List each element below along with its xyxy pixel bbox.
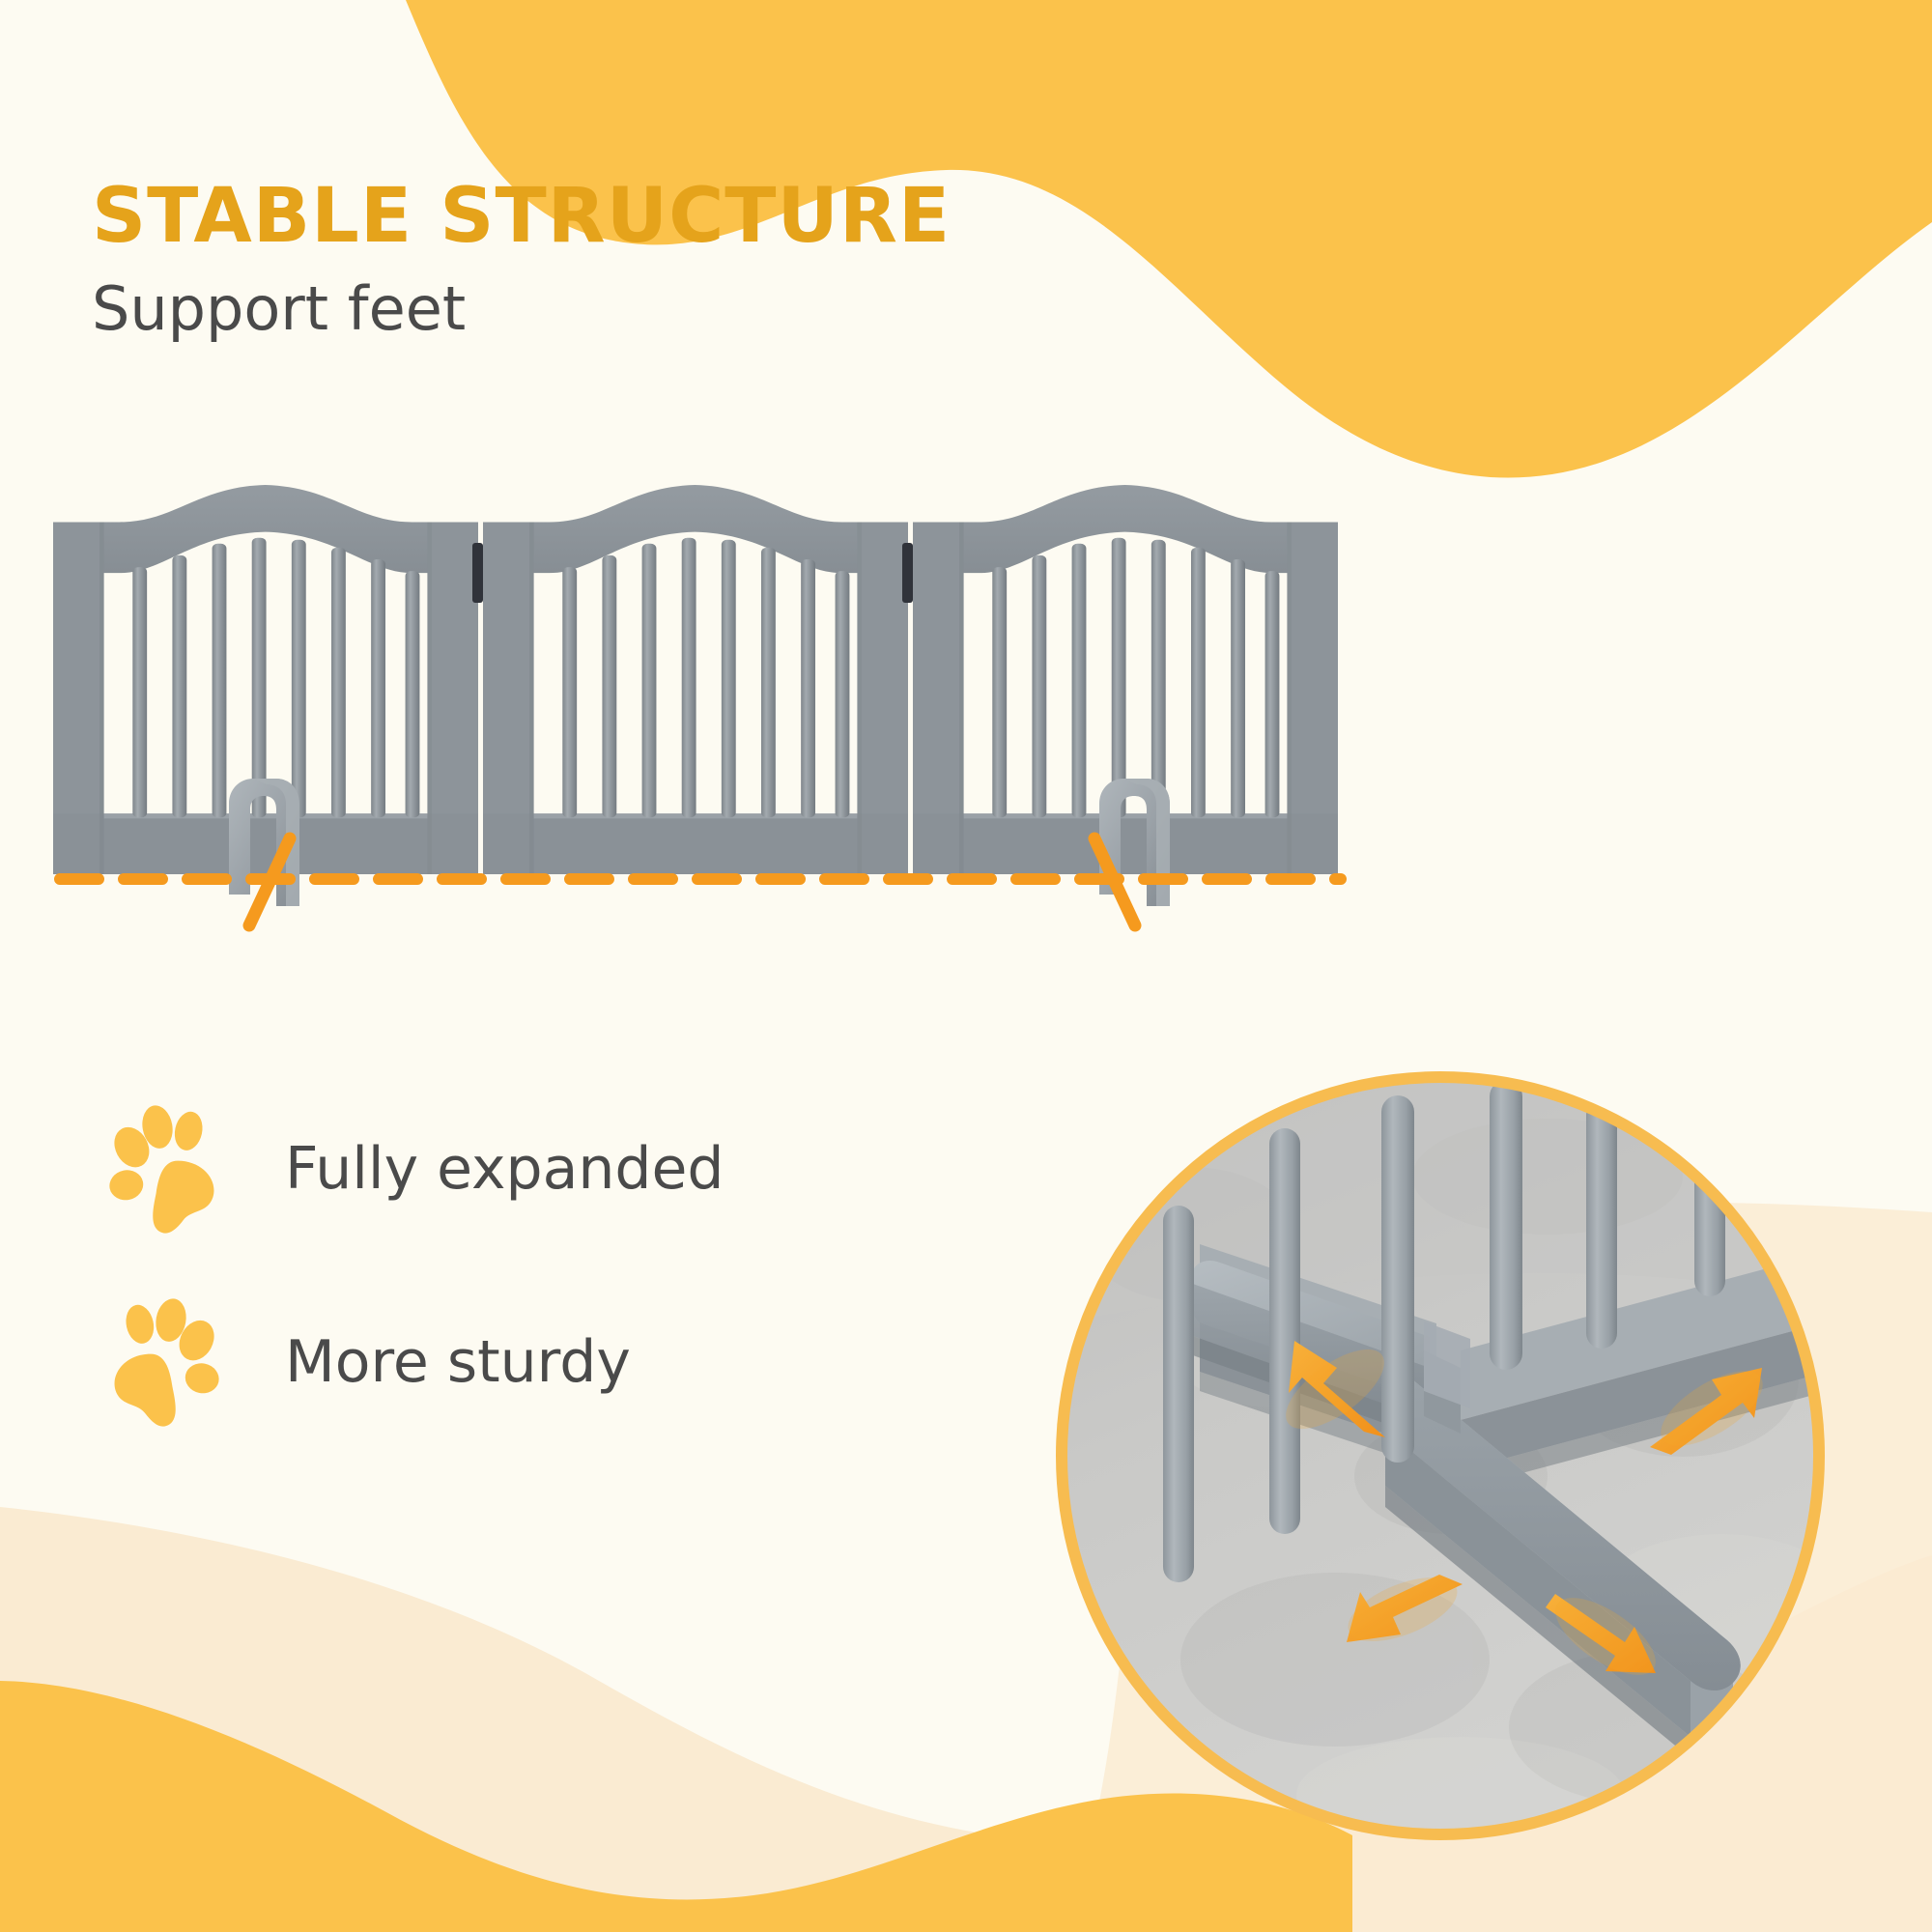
closeup-scene (1045, 1061, 1835, 1851)
list-item: Fully expanded (97, 1072, 889, 1265)
list-item: More sturdy (97, 1265, 889, 1459)
gate-illustration (0, 425, 1468, 1024)
gate-panel-1 (53, 485, 478, 874)
closeup-render (1045, 1061, 1835, 1851)
feature-list: Fully expanded More sturdy (97, 1072, 889, 1459)
paw-print-icon (97, 1294, 232, 1430)
gate-panel-3 (913, 485, 1338, 874)
page-title: STABLE STRUCTURE (92, 179, 1348, 254)
hinge-1 (472, 543, 483, 603)
header-block: STABLE STRUCTURE Support feet (92, 179, 1348, 339)
list-item-label: More sturdy (285, 1328, 631, 1396)
gate-diagram (0, 425, 1468, 1024)
gate-panel-2 (483, 485, 908, 874)
paw-print-icon (97, 1101, 232, 1236)
support-foot-closeup (1045, 1061, 1835, 1851)
infographic-canvas: STABLE STRUCTURE Support feet (0, 0, 1932, 1932)
page-subtitle: Support feet (92, 279, 1348, 339)
hinge-2 (902, 543, 913, 603)
list-item-label: Fully expanded (285, 1135, 724, 1203)
